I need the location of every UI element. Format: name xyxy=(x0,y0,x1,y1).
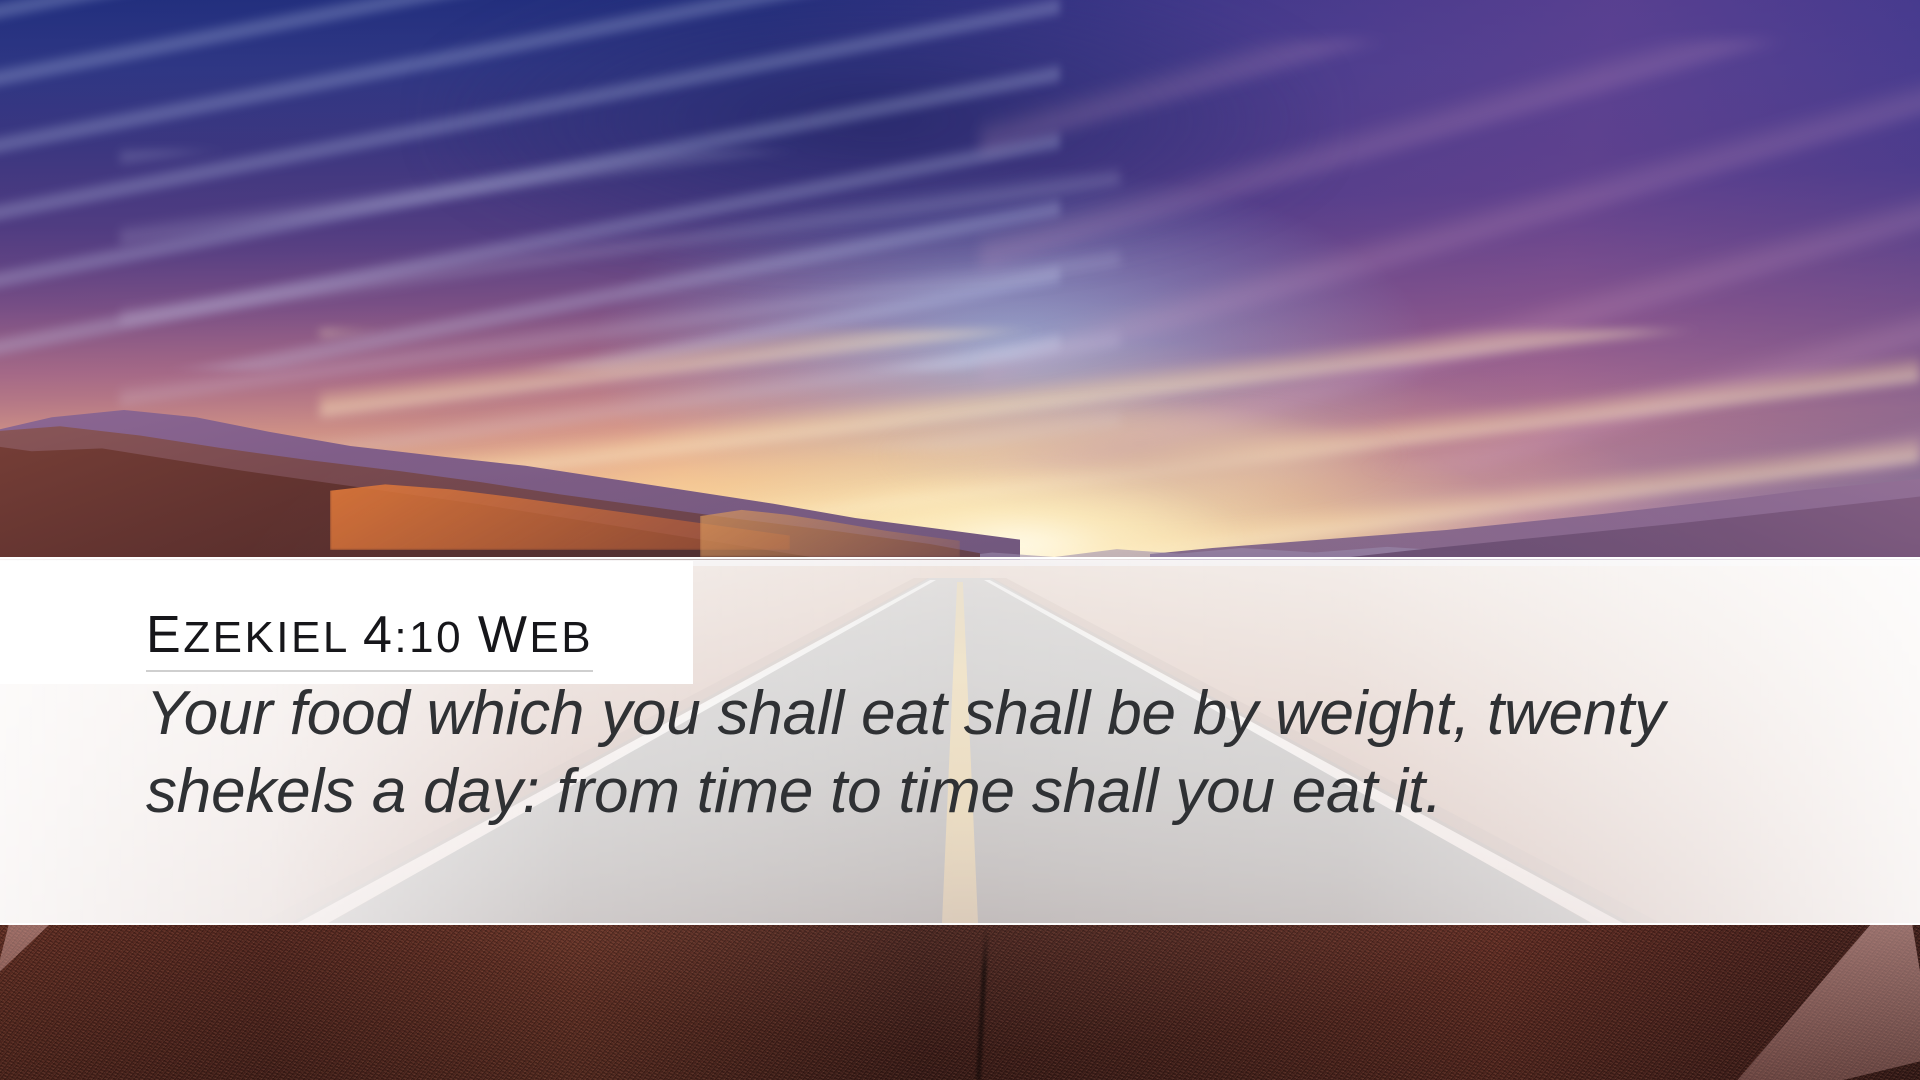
verse-text: Your food which you shall eat shall be b… xyxy=(146,675,1826,831)
verse-block: EZEKIEL 4:10 WEB Your food which you sha… xyxy=(0,557,1920,925)
foreground-asphalt xyxy=(0,925,1920,1080)
verse-text-line: Your food which you shall eat shall be b… xyxy=(146,675,1826,753)
verse-reference: EZEKIEL 4:10 WEB xyxy=(146,609,593,672)
verse-reference-plate: EZEKIEL 4:10 WEB xyxy=(0,561,693,684)
verse-image-canvas: EZEKIEL 4:10 WEB Your food which you sha… xyxy=(0,0,1920,1080)
verse-text-line: shekels a day: from time to time shall y… xyxy=(146,753,1826,831)
asphalt-grit-texture xyxy=(0,925,1920,1080)
